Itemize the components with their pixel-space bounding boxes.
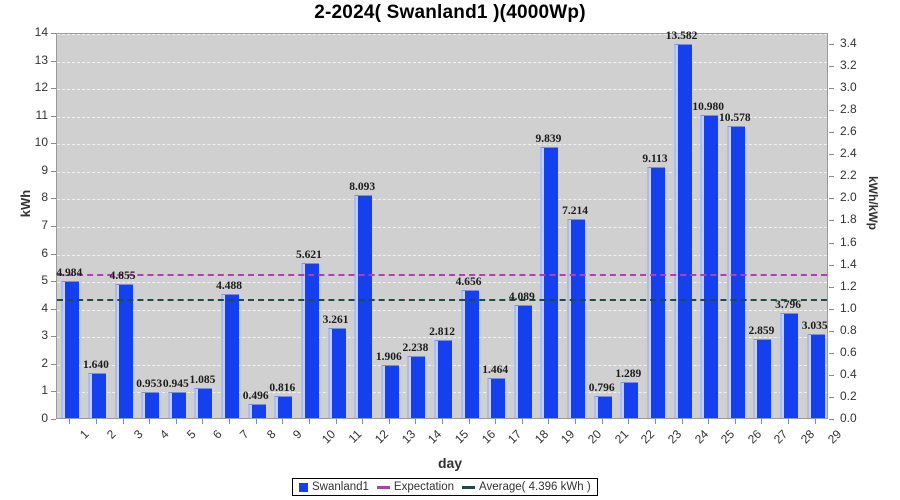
- bar[interactable]: [594, 396, 612, 418]
- x-axis-tickmark: [389, 419, 390, 424]
- y2-axis-tick-label: 0.2: [840, 389, 857, 403]
- bar-highlight: [330, 329, 332, 418]
- bar-value-label: 1.464: [473, 364, 517, 376]
- bar-value-label: 7.214: [553, 205, 597, 217]
- y-axis-tick-label: 1: [14, 383, 48, 397]
- x-axis-tickmark: [202, 419, 203, 424]
- x-axis-tickmark: [229, 419, 230, 424]
- legend-item[interactable]: Average( 4.396 kWh ): [462, 481, 591, 493]
- y2-axis-tickmark: [829, 88, 834, 89]
- bar-value-label: 1.085: [180, 374, 224, 386]
- legend-square-icon: [299, 483, 308, 492]
- bar-value-label: 4.656: [447, 276, 491, 288]
- y2-axis-tickmark: [829, 397, 834, 398]
- x-axis-tick-label: 2: [104, 427, 119, 442]
- page-title: 2-2024( Swanland1 )(4000Wp): [0, 2, 900, 24]
- bar-highlight: [755, 340, 757, 418]
- bar[interactable]: [487, 378, 505, 418]
- x-axis-tickmark: [415, 419, 416, 424]
- y2-axis-tickmark: [829, 419, 834, 420]
- y-axis-tick-label: 9: [14, 163, 48, 177]
- y2-axis-tickmark: [829, 287, 834, 288]
- y2-axis-tick-label: 1.8: [840, 212, 857, 226]
- x-axis-tickmark: [442, 419, 443, 424]
- x-axis-title: day: [0, 455, 900, 471]
- x-axis-tick-label: 23: [665, 427, 684, 446]
- y2-axis-tickmark: [829, 353, 834, 354]
- x-axis-tick-label: 10: [319, 427, 338, 446]
- x-axis-tickmark: [682, 419, 683, 424]
- y2-axis-tick-label: 2.6: [840, 124, 857, 138]
- legend-item[interactable]: Swanland1: [299, 481, 369, 493]
- bar-value-label: 3.035: [793, 320, 837, 332]
- bar[interactable]: [168, 392, 186, 418]
- x-axis-tick-label: 8: [264, 427, 279, 442]
- bar-highlight: [729, 127, 731, 418]
- bar-highlight: [409, 357, 411, 418]
- bar[interactable]: [141, 392, 159, 418]
- x-axis-tick-label: 17: [505, 427, 524, 446]
- x-axis-tick-label: 16: [479, 427, 498, 446]
- bar[interactable]: [301, 263, 319, 418]
- x-axis-tick-label: 4: [157, 427, 172, 442]
- x-axis-tickmark: [69, 419, 70, 424]
- legend-item-label: Expectation: [394, 481, 454, 493]
- bar-highlight: [542, 148, 544, 418]
- bar-value-label: 2.812: [420, 326, 464, 338]
- bar[interactable]: [540, 147, 558, 418]
- bar-highlight: [356, 196, 358, 418]
- bar-highlight: [170, 393, 172, 418]
- legend-item-label: Swanland1: [312, 481, 369, 493]
- x-axis-tickmark: [628, 419, 629, 424]
- x-axis-tickmark: [336, 419, 337, 424]
- bar-value-label: 0.816: [260, 382, 304, 394]
- x-axis-tickmark: [522, 419, 523, 424]
- legend-line-icon: [377, 486, 390, 489]
- y2-axis-tick-label: 1.2: [840, 279, 857, 293]
- bar-value-label: 4.488: [207, 280, 251, 292]
- y-axis-tick-label: 8: [14, 190, 48, 204]
- y2-axis-tickmark: [829, 309, 834, 310]
- bar[interactable]: [727, 126, 745, 418]
- y-axis-tick-label: 5: [14, 273, 48, 287]
- x-axis-tickmark: [602, 419, 603, 424]
- y-axis-tick-label: 11: [14, 108, 48, 122]
- bar-value-label: 1.640: [74, 359, 118, 371]
- x-axis-tickmark: [309, 419, 310, 424]
- x-axis-tick-label: 28: [798, 427, 817, 446]
- x-axis-tickmark: [761, 419, 762, 424]
- y-axis-tick-label: 2: [14, 356, 48, 370]
- x-axis-tick-label: 3: [131, 427, 146, 442]
- x-axis-tick-label: 1: [77, 427, 92, 442]
- bar-highlight: [809, 335, 811, 418]
- x-axis-tick-label: 18: [532, 427, 551, 446]
- bar-value-label: 10.578: [713, 112, 757, 124]
- y2-axis-tick-label: 2.2: [840, 168, 857, 182]
- bar[interactable]: [753, 339, 771, 418]
- y2-axis-tick-label: 1.0: [840, 301, 857, 315]
- x-axis-tick-label: 5: [184, 427, 199, 442]
- y2-axis-tickmark: [829, 220, 834, 221]
- bar-highlight: [223, 295, 225, 418]
- y2-axis-tickmark: [829, 176, 834, 177]
- bar-value-label: 8.093: [340, 181, 384, 193]
- x-axis-tick-label: 21: [612, 427, 631, 446]
- y2-axis-tick-label: 3.2: [840, 58, 857, 72]
- bar[interactable]: [461, 290, 479, 418]
- x-axis-tick-label: 20: [585, 427, 604, 446]
- y-axis-tick-label: 4: [14, 301, 48, 315]
- bar-highlight: [463, 291, 465, 418]
- legend-item[interactable]: Expectation: [377, 481, 454, 493]
- bar[interactable]: [354, 195, 372, 418]
- y2-axis-tick-label: 2.8: [840, 102, 857, 116]
- y-axis-tick-label: 7: [14, 218, 48, 232]
- bar-highlight: [596, 397, 598, 418]
- y2-axis-tickmark: [829, 132, 834, 133]
- y2-axis-tickmark: [829, 110, 834, 111]
- bar-highlight: [250, 405, 252, 418]
- x-axis-tick-label: 29: [825, 427, 844, 446]
- reference-line-expectation: [57, 274, 827, 276]
- x-axis-tickmark: [495, 419, 496, 424]
- y-axis-tick-label: 3: [14, 328, 48, 342]
- x-axis-tick-label: 9: [290, 427, 305, 442]
- legend-item-label: Average( 4.396 kWh ): [479, 481, 591, 493]
- y2-axis-tick-label: 3.4: [840, 36, 857, 50]
- y2-axis-tickmark: [829, 243, 834, 244]
- bar-value-label: 3.261: [314, 314, 358, 326]
- bar-highlight: [143, 393, 145, 418]
- bar-highlight: [63, 282, 65, 418]
- x-axis-tickmark: [735, 419, 736, 424]
- legend: Swanland1ExpectationAverage( 4.396 kWh ): [292, 478, 598, 496]
- reference-line-average: [57, 299, 827, 301]
- x-axis-tickmark: [123, 419, 124, 424]
- bar-value-label: 2.859: [739, 325, 783, 337]
- bar[interactable]: [407, 356, 425, 418]
- bar-value-label: 13.582: [660, 30, 704, 42]
- bar-value-label: 5.621: [287, 249, 331, 261]
- x-axis-tickmark: [282, 419, 283, 424]
- x-axis-tick-label: 7: [237, 427, 252, 442]
- y-axis-tick-label: 14: [14, 25, 48, 39]
- bar[interactable]: [328, 328, 346, 418]
- bar-value-label: 1.289: [606, 368, 650, 380]
- bar-highlight: [303, 264, 305, 418]
- x-axis-tick-label: 24: [691, 427, 710, 446]
- bar-value-label: 3.796: [766, 299, 810, 311]
- gridline: [57, 34, 827, 35]
- bar[interactable]: [194, 388, 212, 418]
- bar-value-label: 2.238: [393, 342, 437, 354]
- bar[interactable]: [514, 305, 532, 418]
- bar-value-label: 0.796: [580, 382, 624, 394]
- y-axis-tick-label: 10: [14, 135, 48, 149]
- x-axis-tickmark: [469, 419, 470, 424]
- y2-axis-tickmark: [829, 375, 834, 376]
- chart-container: 2-2024( Swanland1 )(4000Wp) kWh kWh/kWp …: [0, 0, 900, 500]
- x-axis-tickmark: [655, 419, 656, 424]
- y2-axis-tick-label: 2.0: [840, 190, 857, 204]
- bar-highlight: [649, 168, 651, 418]
- y-axis-tick-label: 0: [14, 411, 48, 425]
- bar[interactable]: [88, 373, 106, 418]
- x-axis-tickmark: [256, 419, 257, 424]
- x-axis-tick-label: 27: [771, 427, 790, 446]
- plot-area: [56, 33, 828, 419]
- bar-value-label: 4.984: [47, 267, 91, 279]
- x-axis-tickmark: [149, 419, 150, 424]
- y2-axis-tick-label: 0.0: [840, 411, 857, 425]
- y2-axis-tickmark: [829, 154, 834, 155]
- y2-axis-tickmark: [829, 198, 834, 199]
- y2-axis-tick-label: 0.6: [840, 345, 857, 359]
- x-axis-tick-label: 6: [210, 427, 225, 442]
- bar-highlight: [90, 374, 92, 418]
- y2-axis-tickmark: [829, 44, 834, 45]
- legend-line-icon: [462, 486, 475, 489]
- bar[interactable]: [700, 115, 718, 418]
- bar[interactable]: [248, 404, 266, 418]
- x-axis-tick-label: 15: [452, 427, 471, 446]
- bar[interactable]: [381, 365, 399, 418]
- y2-axis-tickmark: [829, 265, 834, 266]
- x-axis-tickmark: [362, 419, 363, 424]
- x-axis-tick-label: 19: [558, 427, 577, 446]
- bar-highlight: [516, 306, 518, 418]
- y-axis-tick-label: 12: [14, 80, 48, 94]
- x-axis-tick-label: 14: [425, 427, 444, 446]
- x-axis-tickmark: [575, 419, 576, 424]
- x-axis-tickmark: [176, 419, 177, 424]
- bar-value-label: 4.855: [101, 270, 145, 282]
- y2-axis-title: kWh/kWp: [866, 176, 880, 230]
- bar-highlight: [676, 45, 678, 418]
- x-axis-tickmark: [708, 419, 709, 424]
- bar[interactable]: [674, 44, 692, 418]
- y2-axis-tickmark: [829, 66, 834, 67]
- y-axis-tickmark: [51, 419, 56, 420]
- gridline: [57, 89, 827, 90]
- bar-highlight: [196, 389, 198, 418]
- x-axis-tickmark: [788, 419, 789, 424]
- bar-highlight: [117, 285, 119, 418]
- bar[interactable]: [807, 334, 825, 418]
- gridline: [57, 62, 827, 63]
- bar-highlight: [702, 116, 704, 418]
- bar-value-label: 9.113: [633, 153, 677, 165]
- bar-highlight: [383, 366, 385, 418]
- y2-axis-tick-label: 0.4: [840, 367, 857, 381]
- bar-value-label: 9.839: [526, 133, 570, 145]
- x-axis-tick-label: 22: [638, 427, 657, 446]
- x-axis-tick-label: 25: [718, 427, 737, 446]
- bar-value-label: 4.089: [500, 291, 544, 303]
- x-axis-tickmark: [96, 419, 97, 424]
- x-axis-tick-label: 12: [372, 427, 391, 446]
- y-axis-tick-label: 6: [14, 246, 48, 260]
- bar[interactable]: [61, 281, 79, 418]
- y-axis-tick-label: 13: [14, 53, 48, 67]
- x-axis-tick-label: 26: [745, 427, 764, 446]
- bar-highlight: [569, 220, 571, 418]
- y2-axis-tick-label: 3.0: [840, 80, 857, 94]
- y2-axis-tick-label: 1.6: [840, 235, 857, 249]
- bar-highlight: [489, 379, 491, 418]
- y2-axis-tick-label: 1.4: [840, 257, 857, 271]
- y2-axis-tick-label: 0.8: [840, 323, 857, 337]
- y2-axis-tick-label: 2.4: [840, 146, 857, 160]
- x-axis-tick-label: 13: [399, 427, 418, 446]
- x-axis-tickmark: [548, 419, 549, 424]
- x-axis-tickmark: [815, 419, 816, 424]
- x-axis-tick-label: 11: [345, 427, 364, 446]
- bar[interactable]: [115, 284, 133, 418]
